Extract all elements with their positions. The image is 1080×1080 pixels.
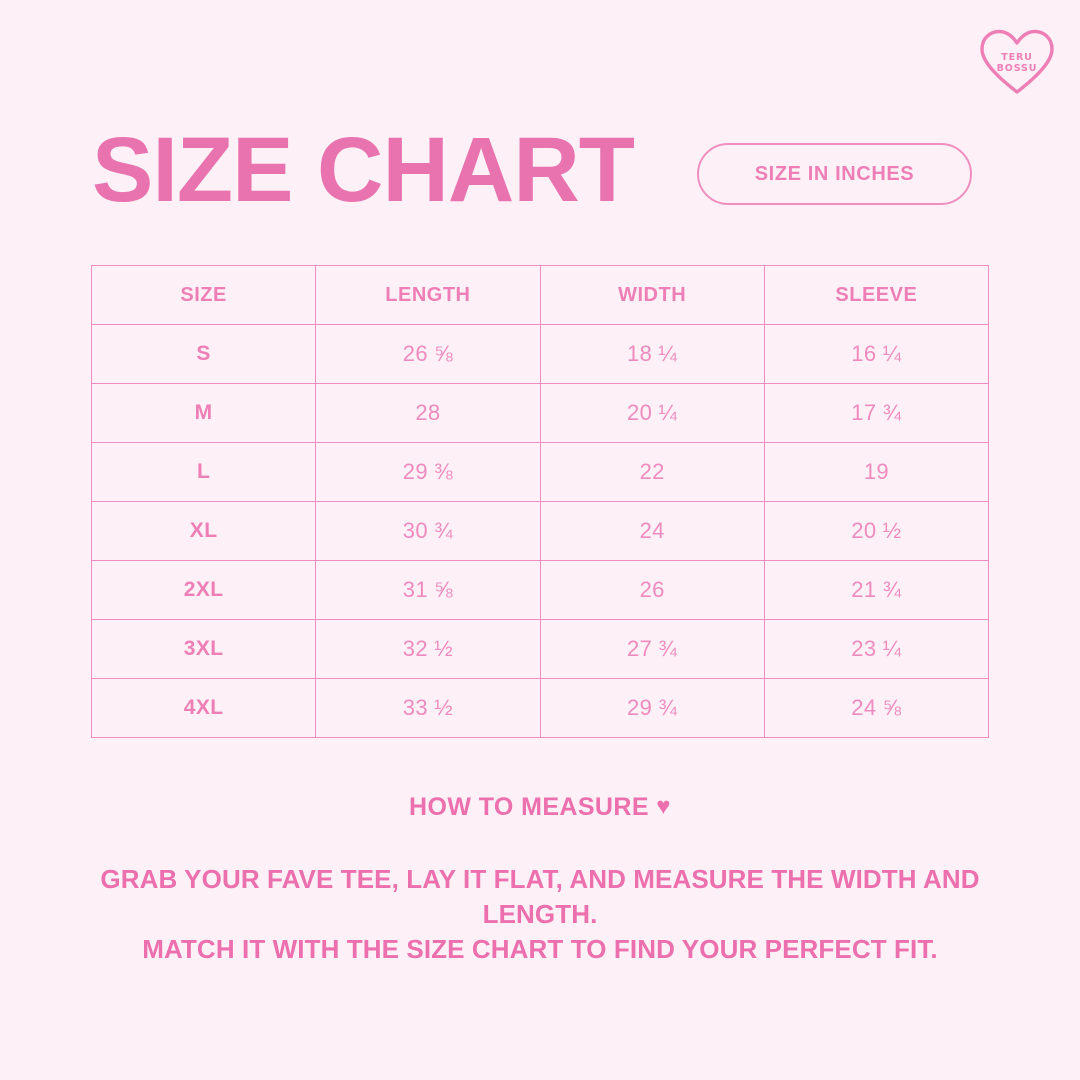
cell-width: 22: [540, 443, 764, 502]
cell-size: 2XL: [92, 561, 316, 620]
cell-sleeve: 16 ¼: [764, 325, 988, 384]
cell-length: 28: [316, 384, 540, 443]
brand-name-line-2: BOSSU: [997, 64, 1038, 74]
table-row: 2XL 31 ⅝ 26 21 ¾: [92, 561, 989, 620]
table-row: XL 30 ¾ 24 20 ½: [92, 502, 989, 561]
column-header-sleeve: SLEEVE: [764, 266, 988, 325]
cell-length: 33 ½: [316, 679, 540, 738]
cell-width: 18 ¼: [540, 325, 764, 384]
cell-width: 20 ¼: [540, 384, 764, 443]
table-row: S 26 ⅝ 18 ¼ 16 ¼: [92, 325, 989, 384]
brand-name-line-1: TERU: [1001, 53, 1033, 63]
cell-sleeve: 19: [764, 443, 988, 502]
column-header-size: SIZE: [92, 266, 316, 325]
cell-width: 27 ¾: [540, 620, 764, 679]
cell-sleeve: 24 ⅝: [764, 679, 988, 738]
cell-length: 26 ⅝: [316, 325, 540, 384]
table-row: L 29 ⅜ 22 19: [92, 443, 989, 502]
cell-width: 29 ¾: [540, 679, 764, 738]
cell-size: S: [92, 325, 316, 384]
how-to-measure-heading: HOW TO MEASURE ♥: [0, 793, 1080, 822]
measure-instructions: GRAB YOUR FAVE TEE, LAY IT FLAT, AND MEA…: [90, 862, 990, 967]
instruction-line-1: GRAB YOUR FAVE TEE, LAY IT FLAT, AND MEA…: [100, 864, 979, 929]
table-row: 4XL 33 ½ 29 ¾ 24 ⅝: [92, 679, 989, 738]
instruction-line-2: MATCH IT WITH THE SIZE CHART TO FIND YOU…: [90, 932, 990, 967]
cell-size: M: [92, 384, 316, 443]
unit-badge: SIZE IN INCHES: [697, 143, 972, 205]
size-chart-table: SIZE LENGTH WIDTH SLEEVE S 26 ⅝ 18 ¼ 16 …: [91, 265, 989, 738]
cell-width: 24: [540, 502, 764, 561]
cell-width: 26: [540, 561, 764, 620]
cell-length: 31 ⅝: [316, 561, 540, 620]
cell-size: 4XL: [92, 679, 316, 738]
column-header-width: WIDTH: [540, 266, 764, 325]
cell-length: 29 ⅜: [316, 443, 540, 502]
cell-sleeve: 21 ¾: [764, 561, 988, 620]
how-to-measure-label: HOW TO MEASURE: [409, 793, 649, 821]
table-header-row: SIZE LENGTH WIDTH SLEEVE: [92, 266, 989, 325]
cell-size: XL: [92, 502, 316, 561]
cell-length: 32 ½: [316, 620, 540, 679]
column-header-length: LENGTH: [316, 266, 540, 325]
cell-sleeve: 17 ¾: [764, 384, 988, 443]
cell-length: 30 ¾: [316, 502, 540, 561]
size-chart-page: TERU BOSSU SIZE CHART SIZE IN INCHES SIZ…: [0, 0, 1080, 1080]
table-row: M 28 20 ¼ 17 ¾: [92, 384, 989, 443]
cell-sleeve: 20 ½: [764, 502, 988, 561]
brand-logo: TERU BOSSU: [979, 28, 1055, 96]
page-title: SIZE CHART: [92, 124, 634, 216]
cell-size: L: [92, 443, 316, 502]
table-row: 3XL 32 ½ 27 ¾ 23 ¼: [92, 620, 989, 679]
heart-icon: ♥: [656, 793, 671, 821]
cell-sleeve: 23 ¼: [764, 620, 988, 679]
cell-size: 3XL: [92, 620, 316, 679]
unit-badge-label: SIZE IN INCHES: [755, 163, 915, 186]
